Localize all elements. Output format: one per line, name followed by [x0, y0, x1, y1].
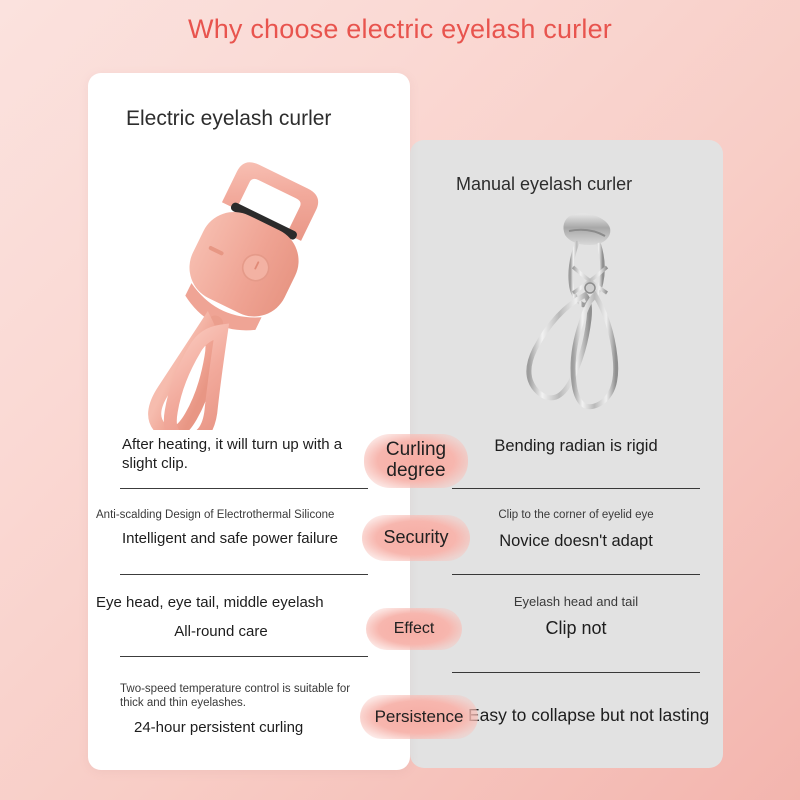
badge-curling-degree: Curling degree — [364, 434, 468, 488]
left-main-text: 24-hour persistent curling — [96, 719, 368, 738]
badge-security: Security — [362, 515, 470, 561]
right-main-text: Bending radian is rigid — [452, 436, 700, 457]
right-sub-text: Eyelash head and tail — [452, 594, 700, 610]
right-sub-text: Clip to the corner of eyelid eye — [452, 508, 700, 522]
right-main-text: Clip not — [452, 617, 700, 640]
left-main-text: After heating, it will turn up with a sl… — [96, 436, 368, 474]
row-divider-left — [120, 656, 368, 657]
badge-effect: Effect — [366, 608, 462, 650]
left-main-text: Intelligent and safe power failure — [96, 530, 368, 549]
right-main-text: Novice doesn't adapt — [452, 531, 700, 552]
row-divider-right — [452, 574, 700, 575]
badge-label: Curling degree — [386, 440, 446, 481]
right-main-text: Easy to collapse but not lasting — [468, 704, 716, 726]
left-sub-text: Two-speed temperature control is suitabl… — [96, 682, 368, 710]
row-left-cell: Anti-scalding Design of Electrothermal S… — [96, 508, 368, 549]
left-main-text: All-round care — [96, 623, 368, 642]
row-divider-right — [452, 488, 700, 489]
left-sub-text: Anti-scalding Design of Electrothermal S… — [96, 508, 368, 522]
row-divider-right — [452, 672, 700, 673]
comparison-table: After heating, it will turn up with a sl… — [0, 0, 800, 800]
row-right-cell: Clip to the corner of eyelid eye Novice … — [452, 508, 700, 552]
row-left-cell: After heating, it will turn up with a sl… — [96, 436, 368, 474]
row-divider-left — [120, 488, 368, 489]
row-left-cell: Two-speed temperature control is suitabl… — [96, 682, 368, 738]
row-right-cell: Eyelash head and tail Clip not — [452, 594, 700, 640]
left-sub-text: Eye head, eye tail, middle eyelash — [96, 594, 368, 613]
row-divider-left — [120, 574, 368, 575]
infographic-stage: Why choose electric eyelash curler Manua… — [0, 0, 800, 800]
row-right-cell: Bending radian is rigid — [452, 436, 700, 457]
badge-persistence: Persistence — [360, 695, 478, 739]
row-left-cell: Eye head, eye tail, middle eyelash All-r… — [96, 594, 368, 642]
row-right-cell: Easy to collapse but not lasting — [452, 704, 716, 726]
